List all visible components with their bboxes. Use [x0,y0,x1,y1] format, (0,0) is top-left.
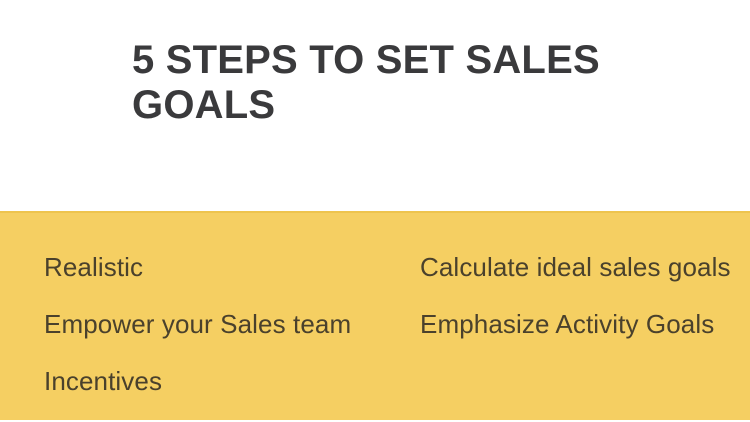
list-item: Incentives [44,368,162,394]
page-title: 5 Steps to Set Sales Goals [132,38,632,128]
highlight-band: Realistic Empower your Sales team Incent… [0,211,750,420]
slide: 5 Steps to Set Sales Goals Realistic Emp… [0,0,750,420]
list-item: Empower your Sales team [44,311,351,337]
list-item: Emphasize Activity Goals [420,311,714,337]
title-area: 5 Steps to Set Sales Goals [132,38,632,128]
points-columns: Realistic Empower your Sales team Incent… [0,213,750,422]
list-item: Realistic [44,254,143,280]
list-item: Calculate ideal sales goals [420,254,731,280]
